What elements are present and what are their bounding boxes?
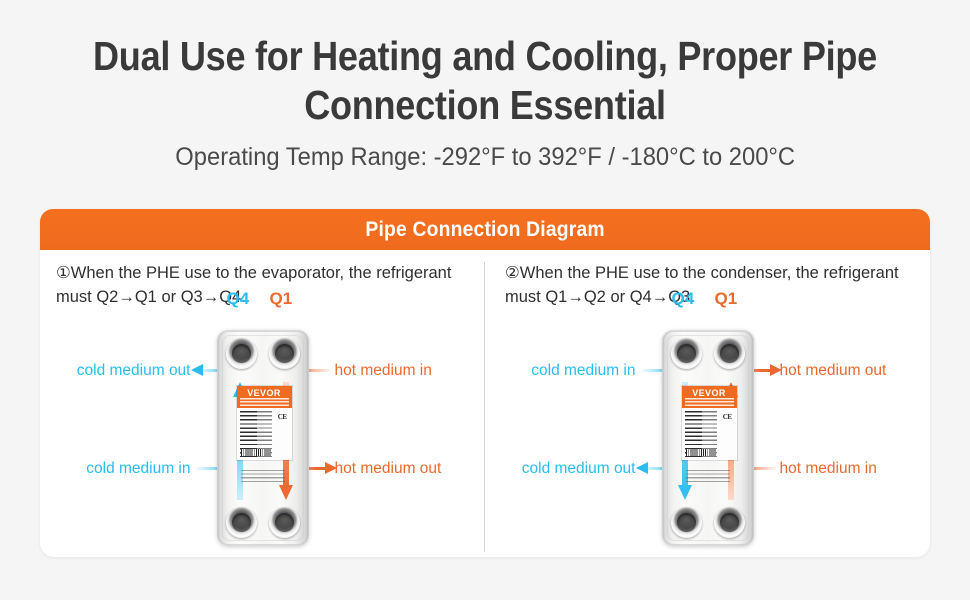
label-bottom-left-condenser: cold medium out (522, 460, 636, 478)
port-label-q4-condenser: Q4 (672, 290, 695, 307)
label-bottom-left-evaporator: cold medium in (86, 460, 190, 478)
product-spec-label: VEVOR CE (237, 386, 292, 460)
label-top-left-evaporator: cold medium out (77, 362, 191, 380)
page-subtitle: Operating Temp Range: -292°F to 392°F / … (0, 141, 970, 173)
port-q3 (226, 507, 257, 538)
port-q4 (226, 338, 257, 369)
ce-mark-icon: CE (723, 413, 732, 421)
port-q1 (269, 338, 300, 369)
plate-body: VEVOR CE (662, 330, 754, 546)
spec-label-body: CE (682, 408, 737, 460)
port-q2 (269, 507, 300, 538)
brand-band: VEVOR (237, 386, 292, 408)
page-title: Dual Use for Heating and Cooling, Proper… (35, 32, 935, 130)
barcode-icon (686, 449, 716, 456)
card-header: Pipe Connection Diagram (40, 209, 930, 250)
label-bottom-right-evaporator: hot medium out (335, 460, 442, 478)
port-label-q1-condenser: Q1 (715, 290, 738, 307)
barcode-icon (241, 449, 271, 456)
brand-band: VEVOR (682, 386, 737, 408)
panel-condenser: ②When the PHE use to the condenser, the … (485, 250, 930, 557)
port-q2 (714, 507, 745, 538)
port-q4 (671, 338, 702, 369)
brand-name: VEVOR (682, 388, 737, 398)
label-top-right-evaporator: hot medium in (335, 362, 432, 380)
panel-condenser-description: ②When the PHE use to the condenser, the … (505, 261, 917, 309)
page-title-line-2: Connection Essential (89, 81, 881, 130)
heat-exchanger-plate-evaporator: VEVOR CE (217, 330, 309, 546)
label-top-right-condenser: hot medium out (780, 362, 887, 380)
plate-footer-print (241, 470, 285, 482)
panel-evaporator-description: ①When the PHE use to the evaporator, the… (56, 261, 468, 309)
page-title-line-1: Dual Use for Heating and Cooling, Proper… (89, 32, 881, 81)
pipe-connection-card: Pipe Connection Diagram ①When the PHE us… (40, 209, 930, 557)
label-bottom-right-condenser: hot medium in (780, 460, 877, 478)
brand-name: VEVOR (237, 388, 292, 398)
plate-footer-print (686, 470, 730, 482)
port-label-q1-evaporator: Q1 (270, 290, 293, 307)
brand-band-text-lines (240, 398, 289, 406)
heat-exchanger-plate-condenser: VEVOR CE (662, 330, 754, 546)
label-top-left-condenser: cold medium in (531, 362, 635, 380)
product-spec-label: VEVOR CE (682, 386, 737, 460)
port-label-q4-evaporator: Q4 (227, 290, 250, 307)
card-header-title: Pipe Connection Diagram (365, 209, 604, 250)
ce-mark-icon: CE (278, 413, 287, 421)
brand-band-text-lines (685, 398, 734, 406)
panel-evaporator: ①When the PHE use to the evaporator, the… (40, 250, 485, 557)
port-q1 (714, 338, 745, 369)
spec-label-body: CE (237, 408, 292, 460)
port-q3 (671, 507, 702, 538)
infographic-page: Dual Use for Heating and Cooling, Proper… (0, 0, 970, 600)
plate-body: VEVOR CE (217, 330, 309, 546)
